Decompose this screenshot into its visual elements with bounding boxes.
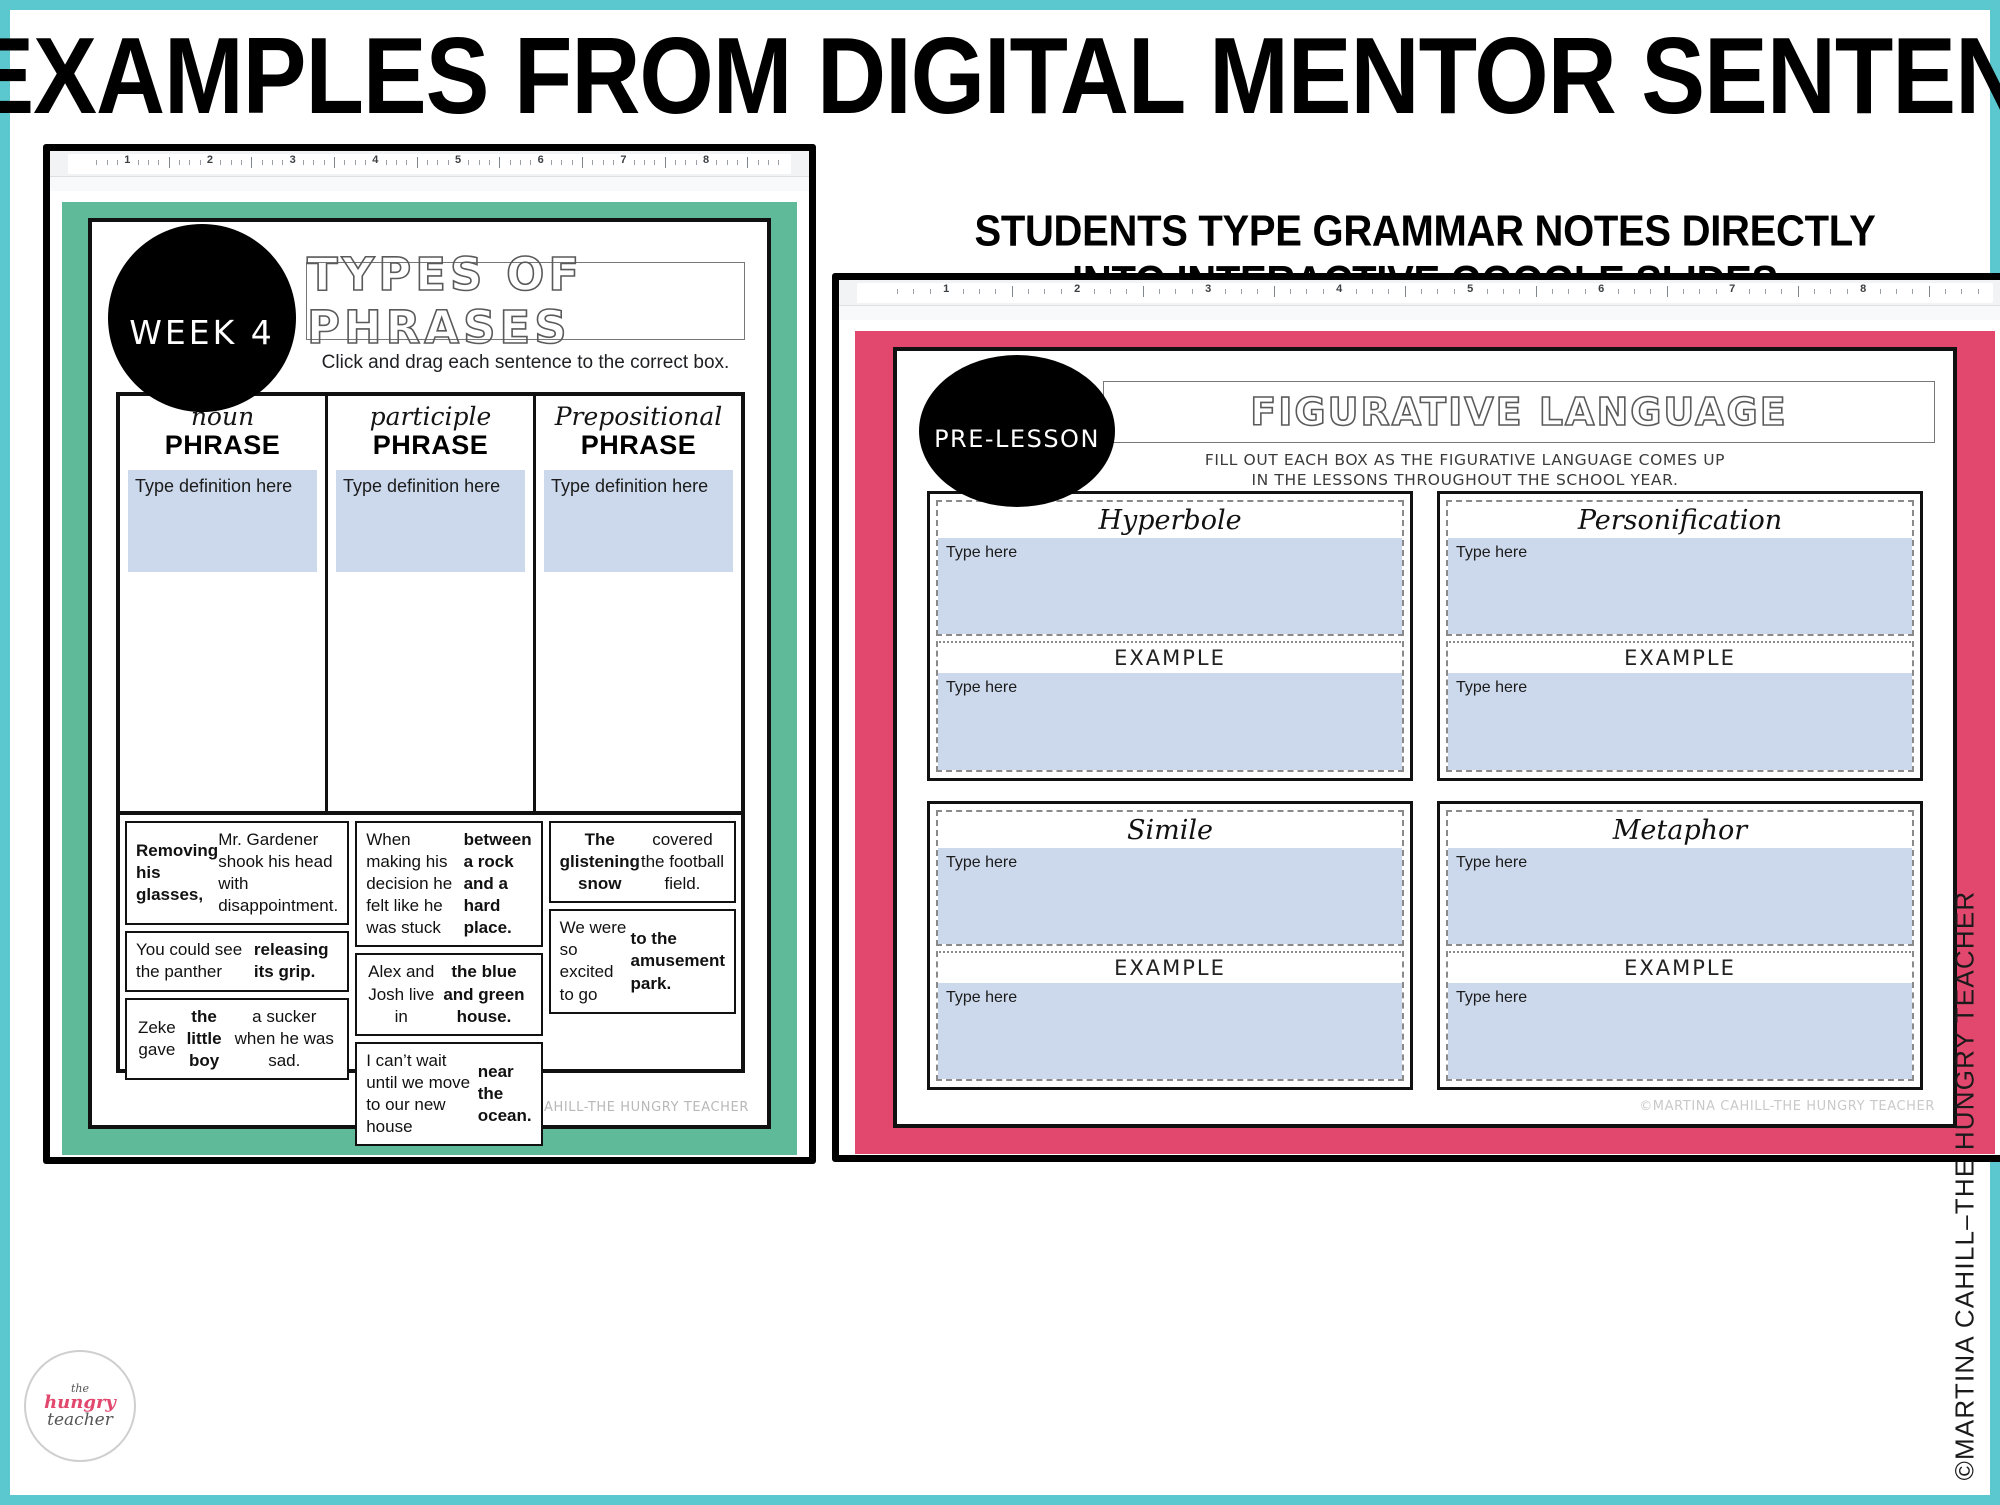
figurative-example-label: EXAMPLE [1448,643,1912,673]
ruler-tick [448,160,449,165]
ruler-tick [417,157,418,168]
ruler-number: 3 [1205,283,1211,295]
ruler-number: 5 [1467,283,1473,295]
sentence-card[interactable]: We were so excited to go to the amusemen… [549,909,736,1013]
ruler-tick [696,160,697,165]
ruler-tick [303,160,304,165]
left-slide-background: WEEK 4 TYPES OF PHRASES Click and drag e… [62,202,797,1155]
figurative-example-section: EXAMPLEType here [936,951,1404,1081]
phrase-column-bold-label: PHRASE [328,431,533,461]
ruler-tick [1061,289,1062,294]
ruler-tick [897,289,898,294]
ruler-tick [1126,289,1127,294]
sentence-card[interactable]: Removing his glasses, Mr. Gardener shook… [125,821,349,925]
figurative-language-grid: HyperboleType hereEXAMPLEType herePerson… [927,491,1923,1090]
ruler-tick [427,160,428,165]
ruler-number: 1 [124,154,130,166]
figurative-definition-section: HyperboleType here [936,500,1404,636]
sentence-card-column: When making his decision he felt like he… [355,821,542,1063]
ruler-number: 3 [290,154,296,166]
sentence-card[interactable]: Zeke gave the little boy a sucker when h… [125,998,349,1080]
ruler-tick [1618,289,1619,294]
ruler-tick [96,160,97,165]
figurative-definition-input[interactable]: Type here [1448,848,1912,944]
right-instruction: FILL OUT EACH BOX AS THE FIGURATIVE LANG… [1017,451,1913,491]
ruler-tick [231,160,232,165]
ruler-tick [1552,289,1553,294]
ruler-tick [1306,289,1307,294]
ruler-tick [1159,289,1160,294]
right-ruler-gap [839,306,2000,320]
figurative-definition-section: MetaphorType here [1446,810,1914,946]
figurative-card-label: Metaphor [1448,812,1912,848]
ruler-tick [1765,289,1766,294]
figurative-card-label: Hyperbole [938,502,1402,538]
ruler-tick [1405,286,1406,297]
sentence-cards-strip: Removing his glasses, Mr. Gardener shook… [116,811,745,1073]
ruler-tick [685,160,686,165]
definition-input-noun[interactable]: Type definition here [128,470,317,572]
ruler-number: 4 [372,154,378,166]
ruler-number: 1 [943,283,949,295]
figurative-definition-input[interactable]: Type here [1448,538,1912,634]
ruler-tick [499,157,500,168]
figurative-example-input[interactable]: Type here [938,673,1402,769]
sentence-card[interactable]: I can’t wait until we move to our new ho… [355,1042,542,1146]
ruler-tick [1634,289,1635,294]
ruler-tick [1568,289,1569,294]
ruler-tick [1323,289,1324,294]
page-inner: EXAMPLES FROM DIGITAL MENTOR SENTENCES S… [10,10,1990,1495]
ruler-tick [1143,286,1144,297]
left-slide-window: 12345678 WEEK 4 TYPES OF PHRASES Click a… [43,144,816,1164]
page-title: EXAMPLES FROM DIGITAL MENTOR SENTENCES [0,22,2000,131]
figurative-card-label: Personification [1448,502,1912,538]
ruler-tick [344,160,345,165]
figurative-card: PersonificationType hereEXAMPLEType here [1437,491,1923,781]
week-badge: WEEK 4 [108,224,296,412]
ruler-tick [1830,289,1831,294]
ruler-tick [365,160,366,165]
ruler-tick [1912,289,1913,294]
ruler-number: 7 [620,154,626,166]
figurative-example-section: EXAMPLEType here [936,641,1404,771]
side-copyright: ©MARTINA CAHILL–THE HUNGRY TEACHER [1942,950,1988,1420]
ruler-tick [282,160,283,165]
left-worksheet: WEEK 4 TYPES OF PHRASES Click and drag e… [88,218,771,1129]
sentence-card[interactable]: When making his decision he felt like he… [355,821,542,947]
ruler-tick [262,160,263,165]
ruler-number: 5 [455,154,461,166]
sentence-card-empty-slot [549,1020,736,1063]
ruler-tick [1503,289,1504,294]
ruler-tick [1454,289,1455,294]
figurative-example-label: EXAMPLE [938,953,1402,983]
ruler-tick [665,157,666,168]
figurative-example-input[interactable]: Type here [1448,983,1912,1079]
ruler-tick [117,160,118,165]
ruler-tick [1241,289,1242,294]
ruler-tick [510,160,511,165]
ruler-tick [355,160,356,165]
definition-input-participle[interactable]: Type definition here [336,470,525,572]
ruler-tick [1175,289,1176,294]
ruler-tick [778,160,779,165]
phrase-column-script-label: participle [328,404,533,430]
ruler-tick [737,160,738,165]
right-ruler[interactable]: 12345678 [839,280,2000,306]
left-ruler[interactable]: 12345678 [50,151,809,177]
figurative-definition-section: PersonificationType here [1446,500,1914,636]
ruler-tick [1814,289,1815,294]
ruler-tick [1798,286,1799,297]
left-title-text: TYPES OF PHRASES [307,248,744,354]
sentence-card[interactable]: Alex and Josh live in the blue and green… [355,953,542,1035]
sentence-card[interactable]: The glistening snow covered the football… [549,821,736,903]
right-slide-window: 12345678 PRE-LESSON FIGURATIVE LANGUAGE … [832,273,2000,1162]
right-instruction-line-1: FILL OUT EACH BOX AS THE FIGURATIVE LANG… [1017,451,1913,471]
ruler-tick [613,160,614,165]
right-title-box: FIGURATIVE LANGUAGE [1103,381,1935,443]
ruler-tick [1749,289,1750,294]
ruler-tick [1421,289,1422,294]
ruler-tick [468,160,469,165]
ruler-tick [334,157,335,168]
sentence-card-column: Removing his glasses, Mr. Gardener shook… [125,821,349,1063]
ruler-tick [489,160,490,165]
ruler-tick [1487,289,1488,294]
ruler-tick [1437,289,1438,294]
page-frame: EXAMPLES FROM DIGITAL MENTOR SENTENCES S… [0,0,2000,1505]
ruler-tick [1225,289,1226,294]
ruler-tick [479,160,480,165]
ruler-number: 8 [703,154,709,166]
ruler-tick [1699,289,1700,294]
ruler-tick [1650,289,1651,294]
callout-line-1: STUDENTS TYPE GRAMMAR NOTES DIRECTLY [830,206,2000,257]
figurative-example-section: EXAMPLEType here [1446,951,1914,1081]
ruler-tick [1012,286,1013,297]
ruler-tick [396,160,397,165]
ruler-tick [148,160,149,165]
ruler-number: 7 [1729,283,1735,295]
phrase-column-header: Prepositional PHRASE [536,396,741,461]
ruler-tick [1585,289,1586,294]
phrase-column-bold-label: PHRASE [536,431,741,461]
ruler-tick [1667,286,1668,297]
ruler-tick [979,289,980,294]
ruler-tick [1781,289,1782,294]
ruler-tick [930,289,931,294]
figurative-definition-input[interactable]: Type here [938,538,1402,634]
sentence-card-column: The glistening snow covered the football… [549,821,736,1063]
figurative-card: SimileType hereEXAMPLEType here [927,801,1413,1091]
ruler-tick [1110,289,1111,294]
left-slide-canvas[interactable]: WEEK 4 TYPES OF PHRASES Click and drag e… [50,191,809,1155]
ruler-tick [138,160,139,165]
ruler-number: 6 [538,154,544,166]
right-instruction-line-2: IN THE LESSONS THROUGHOUT THE SCHOOL YEA… [1017,471,1913,491]
ruler-tick [634,160,635,165]
definition-input-prepositional[interactable]: Type definition here [544,470,733,572]
ruler-tick [995,289,996,294]
phrase-column-header: participle PHRASE [328,396,533,461]
ruler-number: 4 [1336,283,1342,295]
week-badge-label: WEEK 4 [129,313,274,352]
ruler-number: 6 [1598,283,1604,295]
ruler-track [68,154,791,174]
left-instruction: Click and drag each sentence to the corr… [306,352,745,374]
ruler-tick [1683,289,1684,294]
ruler-tick [727,160,728,165]
ruler-tick [1929,286,1930,297]
phrase-column-bold-label: PHRASE [120,431,325,461]
right-title-text: FIGURATIVE LANGUAGE [1250,390,1787,434]
ruler-tick [644,160,645,165]
figurative-example-input[interactable]: Type here [938,983,1402,1079]
ruler-tick [1356,289,1357,294]
ruler-tick [1044,289,1045,294]
ruler-tick [747,157,748,168]
ruler-tick [179,160,180,165]
logo-line-3: teacher [47,1412,113,1429]
ruler-tick [220,160,221,165]
figurative-definition-section: SimileType here [936,810,1404,946]
ruler-tick [241,160,242,165]
figurative-card: MetaphorType hereEXAMPLEType here [1437,801,1923,1091]
sentence-card[interactable]: You could see the panther releasing its … [125,931,349,991]
figurative-example-label: EXAMPLE [938,643,1402,673]
ruler-tick [654,160,655,165]
ruler-tick [158,160,159,165]
figurative-example-input[interactable]: Type here [1448,673,1912,769]
pre-lesson-badge-label: PRE-LESSON [934,425,1100,453]
ruler-tick [913,289,914,294]
ruler-number: 2 [207,154,213,166]
ruler-tick [1290,289,1291,294]
ruler-tick [200,160,201,165]
ruler-tick [1192,289,1193,294]
ruler-tick [1536,286,1537,297]
right-slide-canvas[interactable]: PRE-LESSON FIGURATIVE LANGUAGE FILL OUT … [839,320,2000,1154]
ruler-tick [582,157,583,168]
ruler-tick [324,160,325,165]
ruler-tick [758,160,759,165]
ruler-tick [1094,289,1095,294]
ruler-tick [313,160,314,165]
ruler-tick [1274,286,1275,297]
ruler-tick [1028,289,1029,294]
ruler-tick [406,160,407,165]
right-slide-credit: ©MARTINA CAHILL-THE HUNGRY TEACHER [1639,1099,1935,1114]
left-title-box: TYPES OF PHRASES [306,262,745,340]
ruler-tick [963,289,964,294]
ruler-tick [561,160,562,165]
right-slide-background: PRE-LESSON FIGURATIVE LANGUAGE FILL OUT … [855,331,1995,1154]
ruler-number: 8 [1860,283,1866,295]
phrase-column-script-label: Prepositional [536,404,741,430]
ruler-tick [551,160,552,165]
left-ruler-gap [50,177,809,191]
ruler-tick [251,157,252,168]
ruler-tick [1961,289,1962,294]
ruler-tick [1388,289,1389,294]
figurative-card-label: Simile [938,812,1402,848]
ruler-tick [530,160,531,165]
ruler-tick [572,160,573,165]
figurative-definition-input[interactable]: Type here [938,848,1402,944]
ruler-tick [1847,289,1848,294]
ruler-number: 2 [1074,283,1080,295]
ruler-tick [1896,289,1897,294]
ruler-tick [1372,289,1373,294]
brand-logo: the hungry teacher [24,1350,136,1462]
ruler-tick [1716,289,1717,294]
figurative-card: HyperboleType hereEXAMPLEType here [927,491,1413,781]
ruler-tick [716,160,717,165]
ruler-tick [520,160,521,165]
figurative-example-section: EXAMPLEType here [1446,641,1914,771]
pre-lesson-badge: PRE-LESSON [919,355,1115,507]
ruler-tick [272,160,273,165]
ruler-tick [1257,289,1258,294]
ruler-tick [107,160,108,165]
figurative-example-label: EXAMPLE [1448,953,1912,983]
ruler-tick [1519,289,1520,294]
ruler-tick [169,157,170,168]
ruler-tick [386,160,387,165]
ruler-tick [1880,289,1881,294]
ruler-tick [592,160,593,165]
ruler-tick [189,160,190,165]
ruler-tick [768,160,769,165]
ruler-tick [675,160,676,165]
right-worksheet: PRE-LESSON FIGURATIVE LANGUAGE FILL OUT … [893,347,1957,1128]
ruler-tick [437,160,438,165]
ruler-tick [1945,289,1946,294]
ruler-tick [603,160,604,165]
ruler-tick [1978,289,1979,294]
side-copyright-text: ©MARTINA CAHILL–THE HUNGRY TEACHER [1950,890,1981,1480]
